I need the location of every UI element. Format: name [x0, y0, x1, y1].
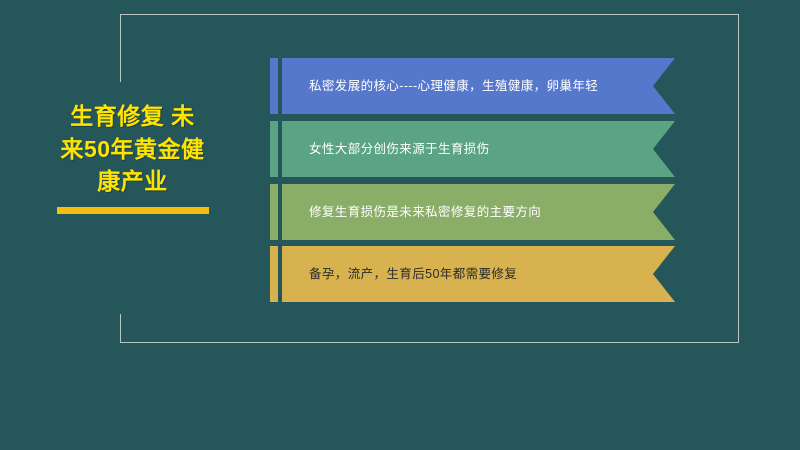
title-block: 生育修复 未 来50年黄金健 康产业 — [10, 100, 255, 214]
banner-tab — [270, 121, 278, 177]
banner-body[interactable]: 私密发展的核心----心理健康，生殖健康，卵巢年轻 — [282, 58, 675, 114]
banner-label: 女性大部分创伤来源于生育损伤 — [282, 141, 530, 157]
banner-tab — [270, 246, 278, 302]
banner-row[interactable]: 备孕，流产，生育后50年都需要修复 — [270, 246, 675, 302]
title-underline-rule — [57, 207, 209, 214]
banner-row[interactable]: 私密发展的核心----心理健康，生殖健康，卵巢年轻 — [270, 58, 675, 114]
slide-canvas: 生育修复 未 来50年黄金健 康产业 私密发展的核心----心理健康，生殖健康，… — [0, 0, 800, 450]
banner-label: 备孕，流产，生育后50年都需要修复 — [282, 266, 557, 282]
page-title: 生育修复 未 来50年黄金健 康产业 — [10, 100, 255, 198]
banner-tab — [270, 58, 278, 114]
banner-tab — [270, 184, 278, 240]
banner-label: 修复生育损伤是未来私密修复的主要方向 — [282, 204, 581, 220]
banner-body[interactable]: 修复生育损伤是未来私密修复的主要方向 — [282, 184, 675, 240]
banner-row[interactable]: 修复生育损伤是未来私密修复的主要方向 — [270, 184, 675, 240]
banner-label: 私密发展的核心----心理健康，生殖健康，卵巢年轻 — [282, 78, 638, 94]
banner-body[interactable]: 备孕，流产，生育后50年都需要修复 — [282, 246, 675, 302]
banner-row[interactable]: 女性大部分创伤来源于生育损伤 — [270, 121, 675, 177]
banner-body[interactable]: 女性大部分创伤来源于生育损伤 — [282, 121, 675, 177]
